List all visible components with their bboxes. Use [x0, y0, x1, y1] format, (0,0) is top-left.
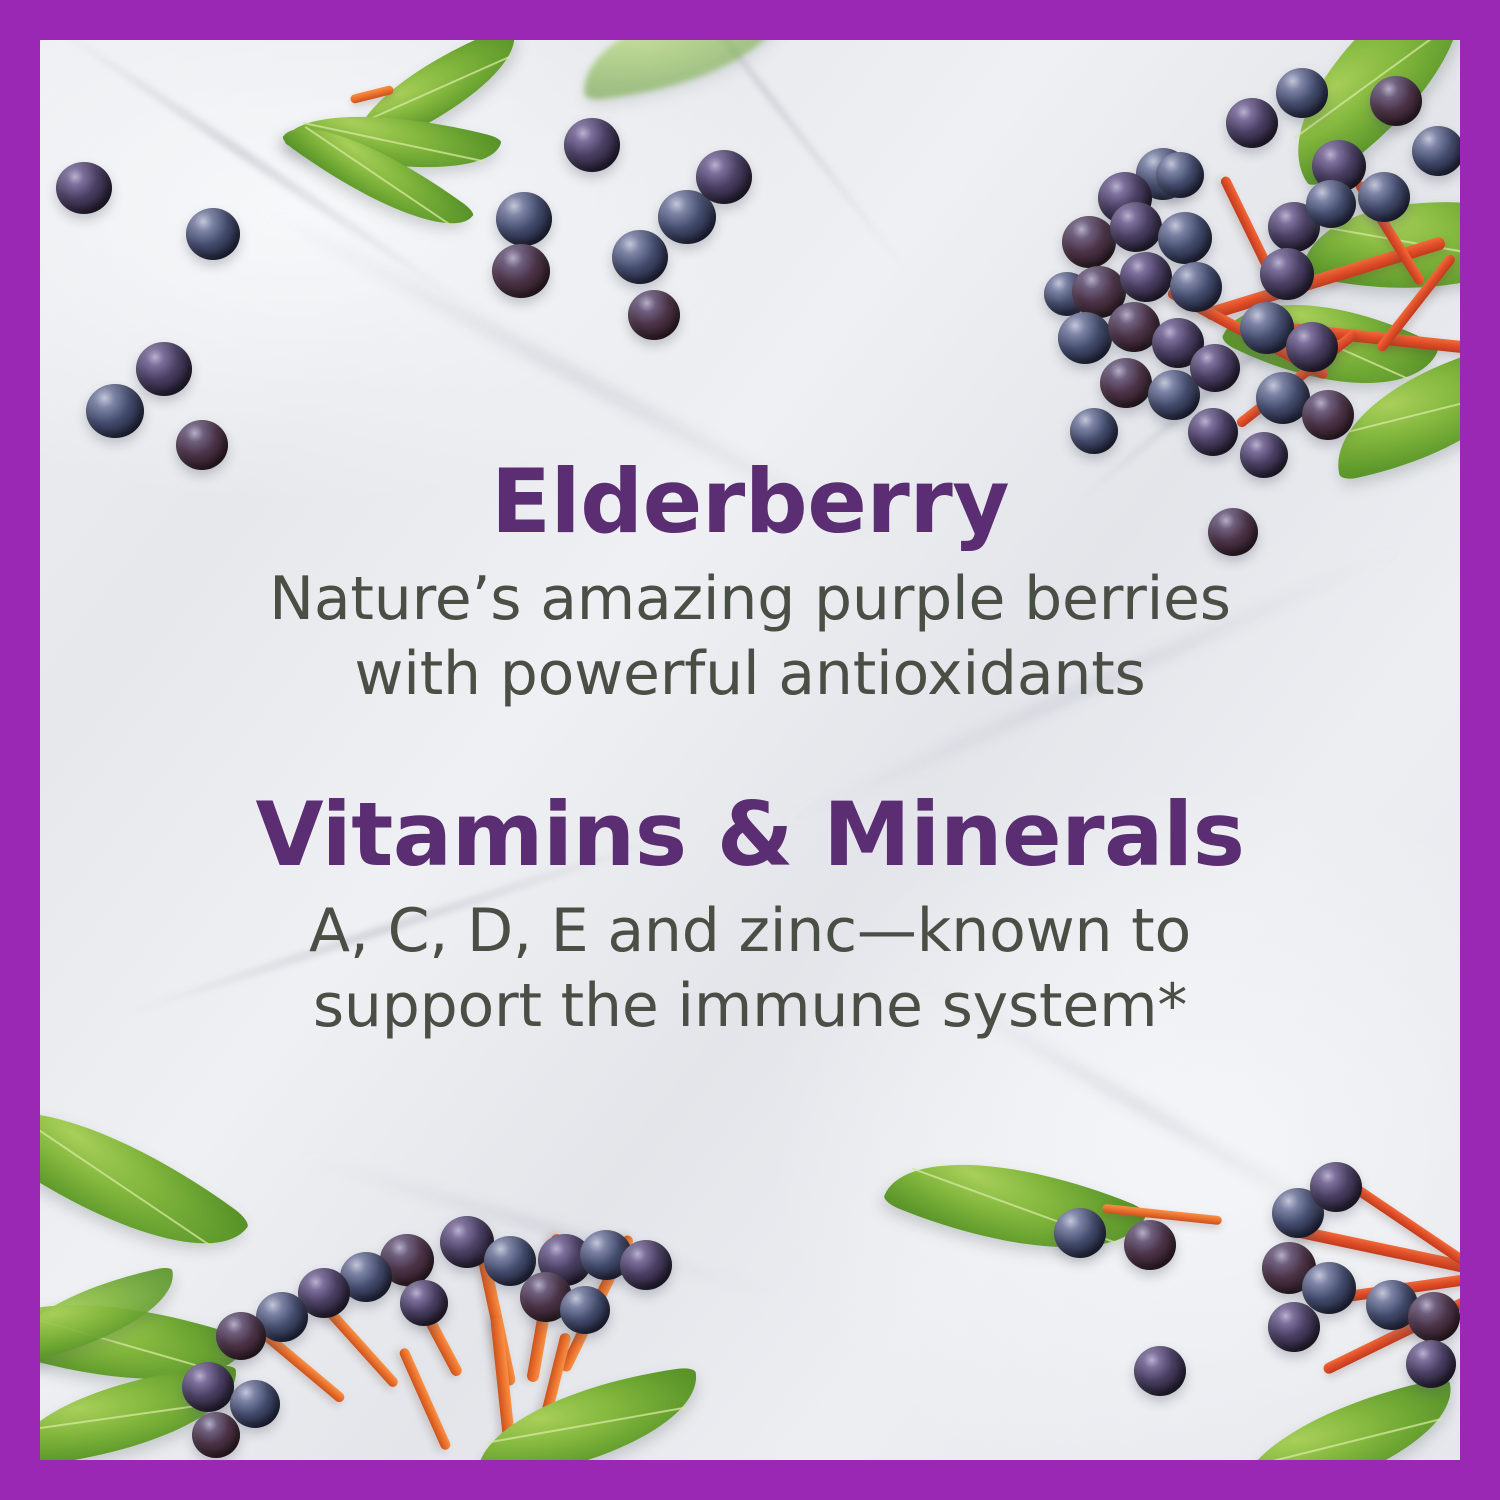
heading-vitamins-minerals: Vitamins & Minerals [130, 788, 1370, 881]
marble-photo-background: Elderberry Nature’s amazing purple berri… [40, 40, 1460, 1460]
heading-elderberry: Elderberry [130, 455, 1370, 548]
vitamins-description-line-2: support the immune system* [130, 969, 1370, 1044]
promo-copy-block: Elderberry Nature’s amazing purple berri… [40, 455, 1460, 1044]
promo-card: Elderberry Nature’s amazing purple berri… [0, 0, 1500, 1500]
vitamins-description-line-1: A, C, D, E and zinc—known to [130, 894, 1370, 969]
elderberry-description-line-2: with powerful antioxidants [130, 637, 1370, 712]
leaf-bottom-right-edge [1224, 1377, 1460, 1460]
elderberry-description-line-1: Nature’s amazing purple berries [130, 562, 1370, 637]
